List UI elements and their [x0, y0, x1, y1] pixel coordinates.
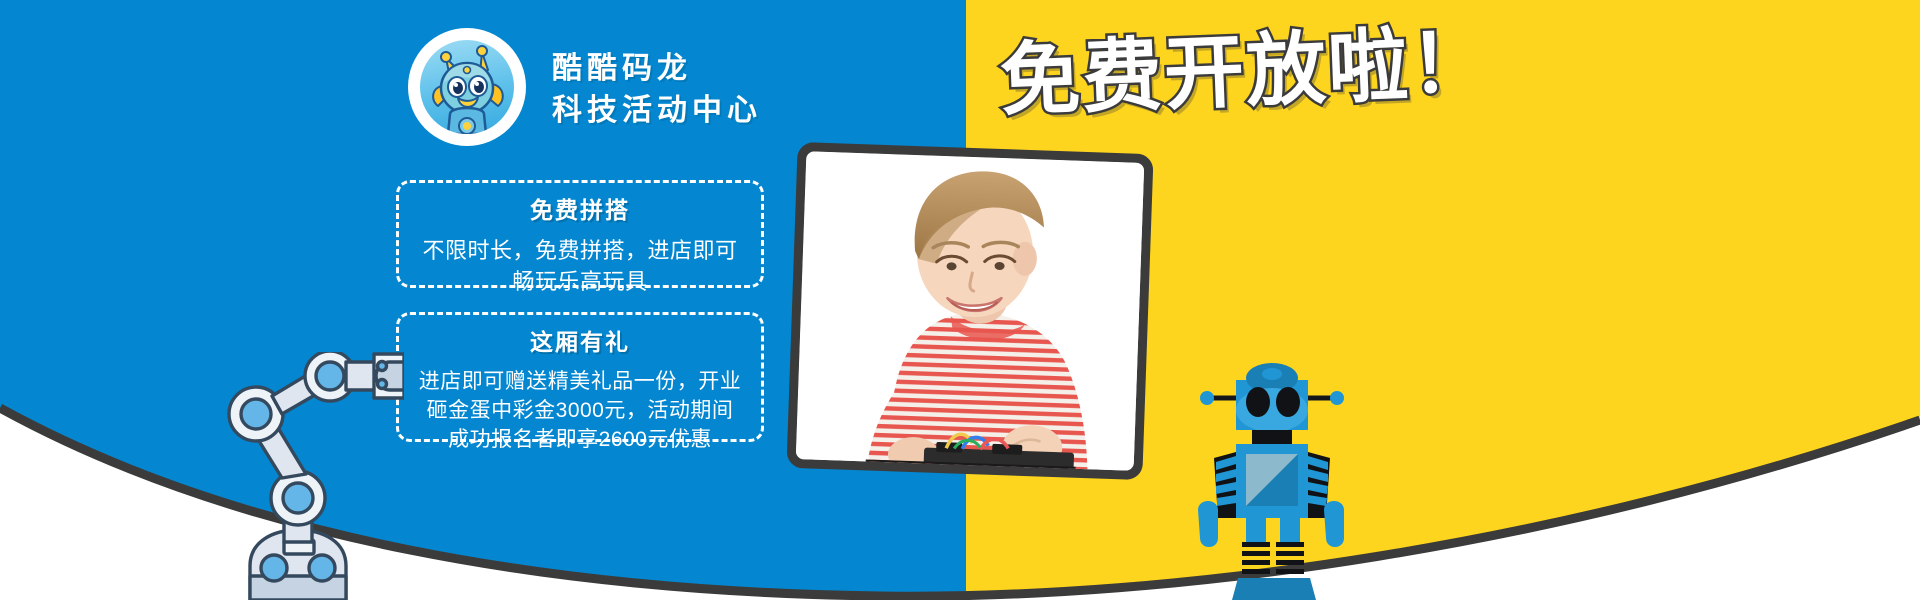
info-box-title: 这厢有礼: [417, 329, 743, 357]
dragon-mascot-icon: [420, 40, 514, 134]
logo-disc: [420, 40, 514, 134]
info-box-gift-offer: 这厢有礼 进店即可赠送精美礼品一份，开业砸金蛋中彩金3000元，活动期间成功报名…: [396, 312, 764, 442]
logo-wordmark: 酷酷码龙 科技活动中心: [552, 46, 762, 129]
toy-robot-illustration: [1196, 352, 1348, 600]
info-box-body: 进店即可赠送精美礼品一份，开业砸金蛋中彩金3000元，活动期间成功报名者即享26…: [417, 367, 743, 455]
logo-circle-badge: [408, 28, 526, 146]
girl-with-robotics-kit-illustration: [796, 151, 1145, 471]
robotic-arm-icon: [222, 352, 404, 600]
info-box-body: 不限时长，免费拼搭，进店即可畅玩乐高玩具: [417, 235, 743, 297]
promo-banner: 酷酷码龙 科技活动中心 免费开放啦！ 免费拼搭 不限时长，免费拼搭，进店即可畅玩…: [0, 0, 1920, 600]
toy-robot-icon: [1196, 352, 1348, 600]
info-box-title: 免费拼搭: [417, 197, 743, 225]
photo-image: [796, 151, 1145, 471]
logo-line-2: 科技活动中心: [552, 94, 762, 129]
robotic-arm-illustration: [222, 352, 404, 600]
photo-frame: [786, 142, 1153, 480]
headline-text: 免费开放啦！: [999, 23, 1494, 122]
info-box-free-build: 免费拼搭 不限时长，免费拼搭，进店即可畅玩乐高玩具: [396, 180, 764, 288]
logo-line-1: 酷酷码龙: [552, 52, 762, 87]
brand-logo-block: 酷酷码龙 科技活动中心: [408, 28, 762, 146]
